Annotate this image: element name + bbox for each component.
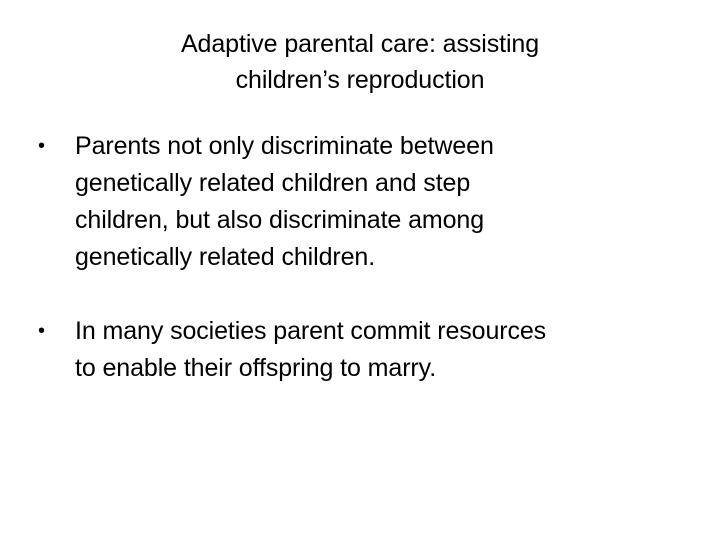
list-item-text: In many societies parent commit resource… (75, 313, 695, 387)
page-title: Adaptive parental care: assisting childr… (60, 26, 660, 98)
list-item-text: Parents not only discriminate between ge… (75, 128, 695, 276)
slide-canvas: Adaptive parental care: assisting childr… (0, 0, 720, 540)
bullet-point-icon: • (30, 313, 75, 350)
list-item: • In many societies parent commit resour… (30, 313, 695, 387)
slide-body: • Parents not only discriminate between … (30, 128, 695, 387)
bullet-point-icon: • (30, 128, 75, 165)
list-item: • Parents not only discriminate between … (30, 128, 695, 276)
